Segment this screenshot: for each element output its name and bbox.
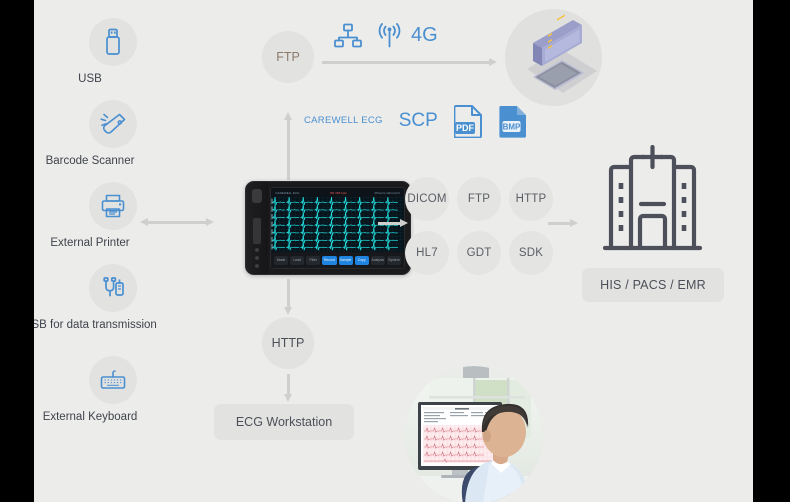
node-label: HTTP	[272, 336, 305, 350]
peripheral-label: USB for data transmission	[34, 318, 165, 332]
letterbox-right	[753, 0, 790, 502]
node-ftp-uplink[interactable]: FTP	[262, 31, 314, 83]
node-label: FTP	[276, 50, 300, 64]
device-port	[255, 248, 259, 252]
export-formats-group: CAREWELL ECG SCP PDF BMP	[304, 104, 528, 138]
ecg-workstation-label[interactable]: ECG Workstation	[214, 404, 354, 440]
arrow-protocols-to-hospital	[548, 219, 578, 228]
printer-icon	[89, 182, 137, 230]
hospital-building-icon	[595, 145, 724, 256]
usb-cable-icon	[89, 264, 137, 312]
peripheral-label: External Keyboard	[34, 410, 165, 424]
device-button[interactable]: Record	[322, 256, 336, 265]
format-carewell-ecg: CAREWELL ECG	[304, 115, 383, 127]
peripheral-label: USB	[34, 72, 165, 86]
arrow-device-to-protocols	[378, 219, 408, 228]
node-http-workstation[interactable]: HTTP	[262, 317, 314, 369]
protocol-http[interactable]: HTTP	[509, 177, 553, 221]
hospital-system[interactable]: HIS / PACS / EMR	[595, 145, 724, 302]
peripheral-external-printer[interactable]: External Printer	[56, 182, 137, 230]
device-button[interactable]: Copy	[355, 256, 369, 265]
peripheral-usb[interactable]: USB	[56, 18, 137, 66]
svg-text:BMP: BMP	[502, 122, 520, 131]
peripheral-usb-data[interactable]: USB for data transmission	[56, 264, 137, 312]
keyboard-icon	[89, 356, 137, 404]
format-label: CAREWELL ECG	[304, 115, 383, 127]
device-port	[255, 264, 259, 268]
status-heart-rate: HR 068 bpm	[330, 191, 347, 195]
device-knob	[252, 189, 262, 203]
device-button[interactable]: Lead	[290, 256, 304, 265]
protocol-grid: DICOM FTP HTTP HL7 GDT SDK	[405, 177, 553, 275]
peripheral-barcode-scanner[interactable]: Barcode Scanner	[56, 100, 137, 148]
protocol-dicom[interactable]: DICOM	[405, 177, 449, 221]
lan-network-icon	[333, 23, 363, 54]
protocol-hl7[interactable]: HL7	[405, 231, 449, 275]
device-status-bar: CAREWELL ECG HR 068 bpm 25mm/s 10mm/mV	[271, 188, 404, 197]
letterbox-left	[0, 0, 34, 502]
peripheral-label: External Printer	[34, 236, 165, 250]
arrow-device-to-http	[284, 279, 293, 315]
protocol-gdt[interactable]: GDT	[457, 231, 501, 275]
arrow-ftp-to-computer	[322, 58, 497, 67]
protocol-sdk[interactable]: SDK	[509, 231, 553, 275]
protocol-row: DICOM FTP HTTP	[405, 177, 553, 221]
device-screen[interactable]: CAREWELL ECG HR 068 bpm 25mm/s 10mm/mV	[270, 187, 405, 269]
arrow-http-to-workstation	[284, 374, 293, 402]
arrow-peripherals-device	[140, 218, 214, 227]
device-side-panel	[246, 182, 268, 274]
protocol-ftp[interactable]: FTP	[457, 177, 501, 221]
protocol-row: HL7 GDT SDK	[405, 231, 553, 275]
device-button[interactable]: Sample	[339, 256, 353, 265]
diagram-canvas: USB Barcode Scanner External Printer	[34, 0, 753, 502]
arrow-device-to-ftp	[284, 112, 293, 180]
ecg-device[interactable]: CAREWELL ECG HR 068 bpm 25mm/s 10mm/mV	[245, 181, 411, 275]
svg-text:PDF: PDF	[456, 123, 475, 133]
device-toolbar[interactable]: Mode Lead Filter Record Sample Copy Anal…	[271, 252, 404, 268]
format-scp: SCP	[399, 110, 438, 132]
peripheral-label: Barcode Scanner	[34, 154, 165, 168]
device-port	[255, 256, 259, 260]
device-button[interactable]: Mode	[274, 256, 288, 265]
doctor-reviewing-ecg-photo	[405, 366, 543, 502]
device-button[interactable]: System	[387, 256, 401, 265]
barcode-scanner-icon	[89, 100, 137, 148]
device-brand-mark	[253, 218, 261, 244]
hospital-systems-label: HIS / PACS / EMR	[582, 268, 724, 302]
status-scale: 25mm/s 10mm/mV	[374, 191, 400, 195]
usb-drive-icon	[89, 18, 137, 66]
device-button[interactable]: Filter	[306, 256, 320, 265]
status-patient-label: CAREWELL ECG	[275, 191, 299, 195]
device-button[interactable]: Analysis	[371, 256, 385, 265]
desktop-computer-icon	[505, 9, 602, 106]
bmp-file-icon: BMP	[499, 104, 528, 138]
wireless-signal-icon	[375, 23, 404, 54]
mobile-network-label: 4G	[411, 24, 438, 47]
peripheral-external-keyboard[interactable]: External Keyboard	[56, 356, 137, 404]
pdf-file-icon: PDF	[454, 104, 483, 138]
